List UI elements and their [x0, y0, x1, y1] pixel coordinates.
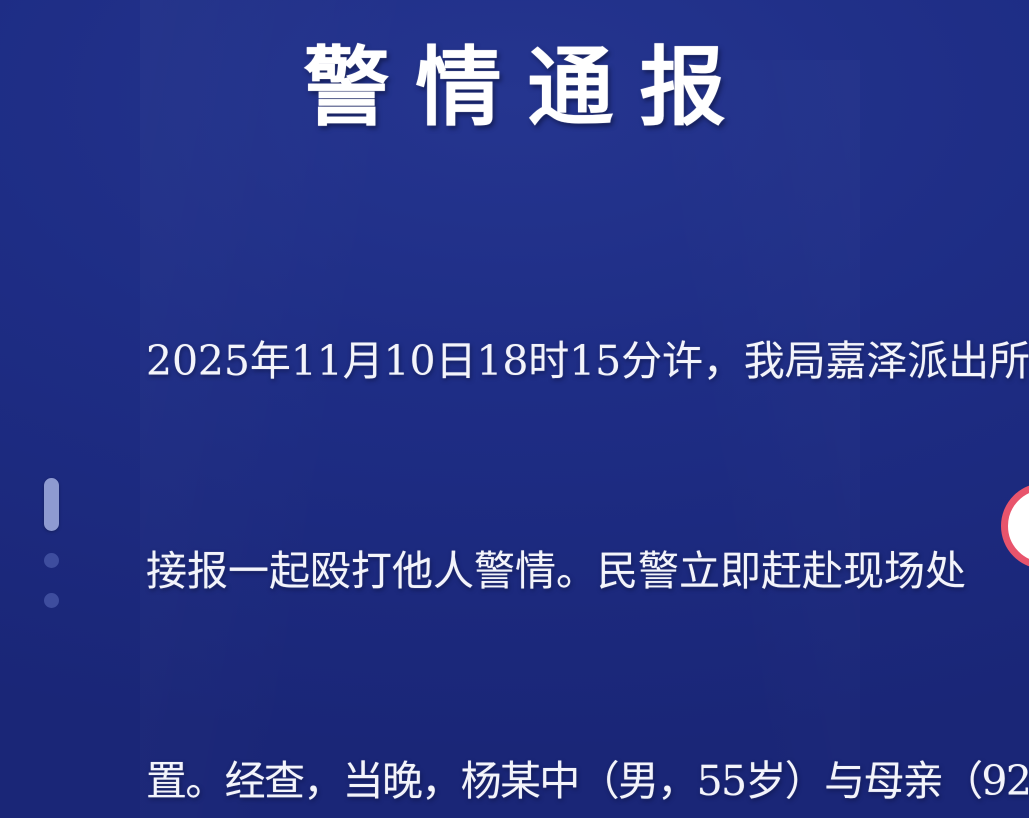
page-dot-3[interactable] [44, 593, 59, 608]
notice-line-3: 置。经查，当晚，杨某中（男，55岁）与母亲（92 [146, 746, 1029, 816]
notice-line-1: 2025年11月10日18时15分许，我局嘉泽派出所 [146, 326, 1029, 396]
notice-line-2: 接报一起殴打他人警情。民警立即赶赴现场处 [146, 536, 1029, 606]
page-dot-2[interactable] [44, 553, 59, 568]
page-dot-1-active[interactable] [44, 478, 59, 531]
notice-poster: 警情通报 2025年11月10日18时15分许，我局嘉泽派出所 接报一起殴打他人… [0, 0, 1029, 818]
page-title: 警情通报 [0, 36, 1029, 140]
page-indicator[interactable] [44, 478, 59, 608]
notice-body: 2025年11月10日18时15分许，我局嘉泽派出所 接报一起殴打他人警情。民警… [146, 186, 1029, 818]
